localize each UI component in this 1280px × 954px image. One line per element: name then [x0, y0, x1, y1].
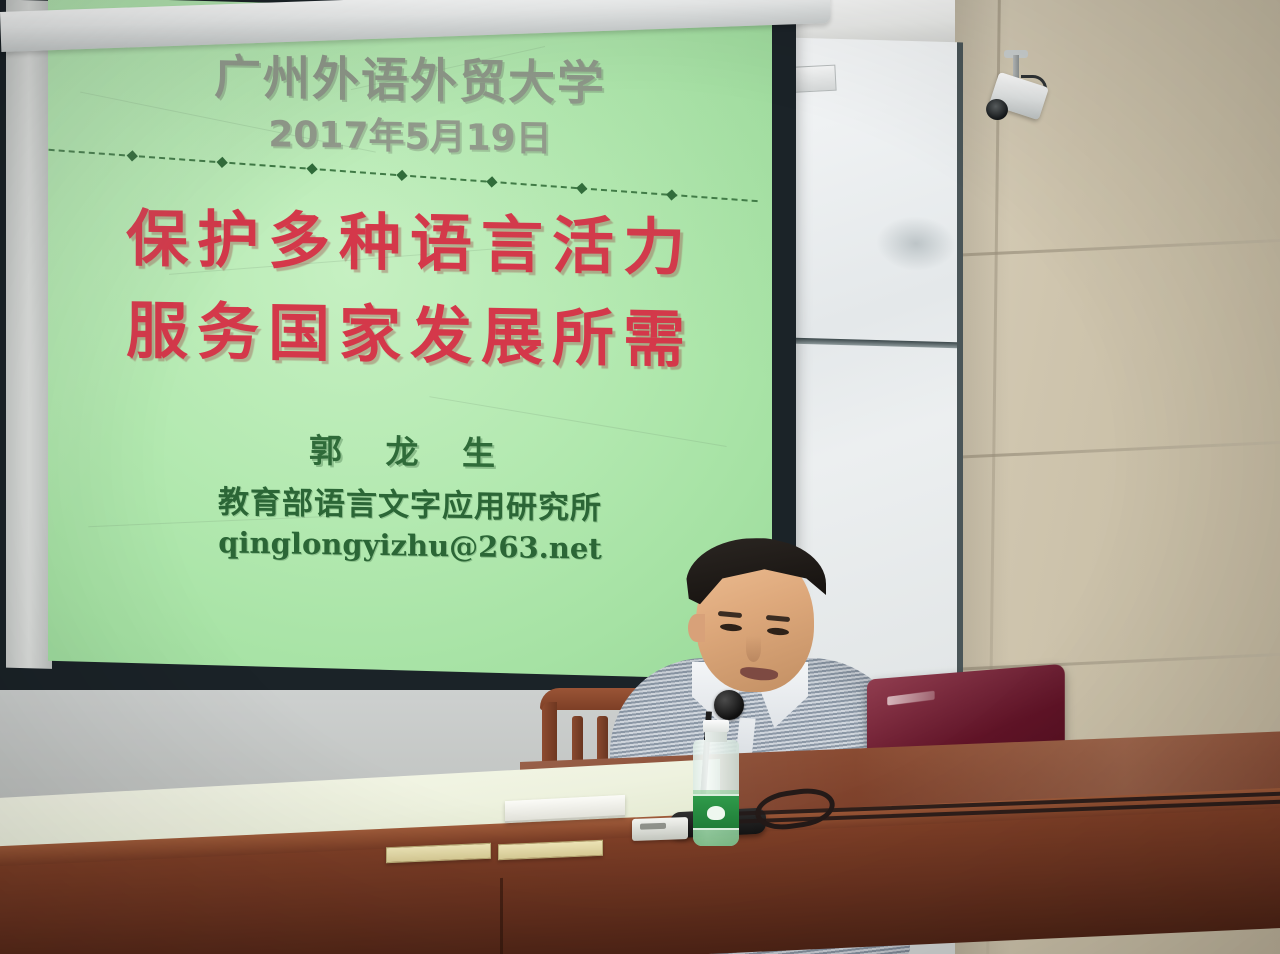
whiteboard-smudge [876, 215, 956, 272]
presenter-nose [746, 636, 761, 662]
lecture-hall-scene: 广州外语外贸大学 2017年5月19日 保护多种语言活力 服 [0, 0, 1280, 954]
divider-marker [666, 190, 677, 201]
whiteboard-divider [795, 338, 957, 349]
security-camera-icon [985, 55, 1061, 125]
divider-marker [217, 157, 228, 168]
divider-marker [486, 177, 497, 188]
presenter-ear [688, 614, 705, 642]
slide-affiliation: 教育部语言文字应用研究所 [48, 473, 772, 530]
table-panel-seam [500, 878, 503, 954]
laptop-logo [887, 691, 934, 706]
divider-marker [396, 170, 407, 181]
slide-title-line-1: 保护多种语言活力 [48, 200, 772, 288]
divider-marker [576, 183, 587, 194]
bottle-cap [703, 720, 729, 732]
screen-left-edge [6, 0, 52, 669]
divider-marker [306, 164, 317, 175]
microphone-head [714, 690, 744, 720]
slide-title-line-2: 服务国家发展所需 [48, 292, 772, 380]
desk-device[interactable] [632, 817, 688, 841]
bottle-label [693, 794, 739, 830]
water-bottle[interactable] [690, 728, 742, 846]
slide-author-name: 郭 龙 生 [48, 419, 772, 479]
